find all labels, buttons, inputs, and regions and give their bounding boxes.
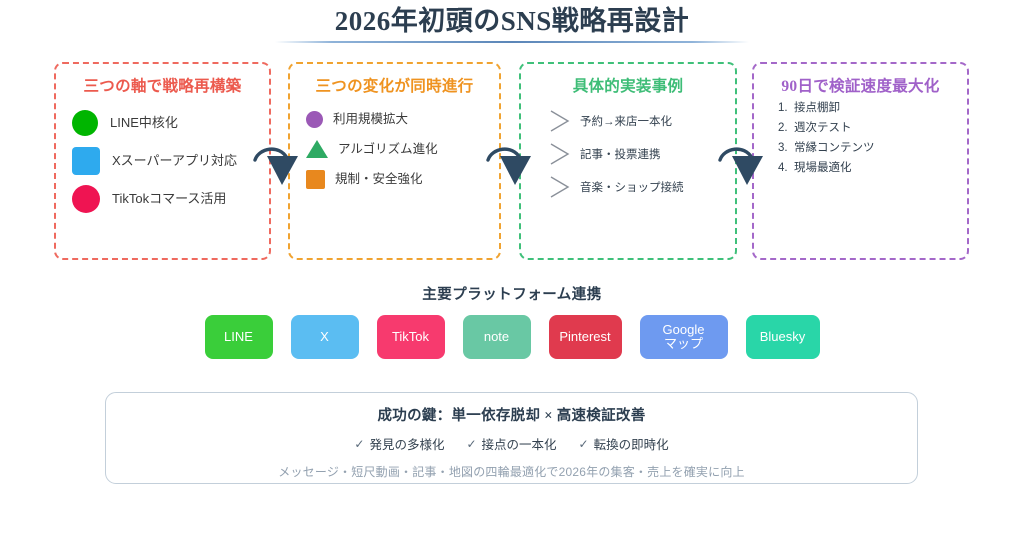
- platform-badge[interactable]: Google マップ: [640, 315, 728, 359]
- list-item: ✓ 転換の即時化: [579, 434, 669, 453]
- list-item-index: 3.: [778, 138, 794, 158]
- list-item-label: 規制・安全強化: [335, 172, 423, 187]
- list-item-label: 常縁コンテンツ: [794, 138, 875, 158]
- card-strategy-axes: 三つの軸で戦略再構築 LINE中核化 Xスーパーアプリ対応 TikTokコマース…: [54, 62, 271, 260]
- card-body: 1. 接点棚卸 2. 週次テスト 3. 常縁コンテンツ 4. 現場最適化: [754, 98, 967, 178]
- chevron-icon: [547, 108, 573, 134]
- list-item: アルゴリズム進化: [290, 134, 499, 164]
- list-item: 記事・投票連携: [521, 137, 735, 170]
- check-icon: ✓: [579, 437, 589, 451]
- list-item: 音楽・ショップ接続: [521, 170, 735, 203]
- platform-badge[interactable]: note: [463, 315, 531, 359]
- platform-badge-list: LINE X TikTok note Pinterest Google マップ …: [0, 315, 1024, 359]
- list-item-index: 4.: [778, 158, 794, 178]
- list-item-label: 発見の多様化: [369, 434, 444, 453]
- list-item-label: 週次テスト: [794, 118, 852, 138]
- list-item-label: LINE中核化: [110, 115, 178, 131]
- list-item-label: アルゴリズム進化: [338, 142, 438, 157]
- platform-badge[interactable]: Pinterest: [549, 315, 622, 359]
- list-item-index: 1.: [778, 98, 794, 118]
- square-marker: [306, 170, 325, 189]
- list-item-label: 転換の即時化: [594, 434, 669, 453]
- circle-marker: [72, 110, 98, 136]
- list-item: 規制・安全強化: [290, 164, 499, 194]
- list-item: 4. 現場最適化: [778, 158, 967, 178]
- list-item-label: 利用規模拡大: [333, 112, 408, 127]
- list-item-label: 音楽・ショップ接続: [580, 179, 684, 195]
- list-item-label: 記事・投票連携: [580, 146, 661, 162]
- list-item: Xスーパーアプリ対応: [56, 142, 269, 180]
- summary-box: 成功の鍵：単一依存脱却 × 高速検証改善 ✓ 発見の多様化 ✓ 接点の一本化 ✓…: [105, 392, 918, 484]
- list-item-index: 2.: [778, 118, 794, 138]
- list-item: 1. 接点棚卸: [778, 98, 967, 118]
- card-title: 90日で検証速度最大化: [754, 74, 967, 96]
- summary-check-list: ✓ 発見の多様化 ✓ 接点の一本化 ✓ 転換の即時化: [106, 434, 917, 453]
- chevron-icon: [547, 174, 573, 200]
- list-item: ✓ 接点の一本化: [466, 434, 556, 453]
- circle-marker: [72, 185, 100, 213]
- list-item: 2. 週次テスト: [778, 118, 967, 138]
- card-implementation-examples: 具体的実装事例 予約→来店一本化 記事・投票連携 音楽・ショップ接続: [519, 62, 737, 260]
- list-item: TikTokコマース活用: [56, 180, 269, 218]
- list-item-label: 現場最適化: [794, 158, 852, 178]
- platform-badge[interactable]: TikTok: [377, 315, 445, 359]
- summary-note: メッセージ・短尺動画・記事・地図の四輪最適化で2026年の集客・売上を確実に向上: [106, 463, 917, 480]
- summary-title: 成功の鍵：単一依存脱却 × 高速検証改善: [106, 404, 917, 425]
- card-body: 予約→来店一本化 記事・投票連携 音楽・ショップ接続: [521, 104, 735, 203]
- card-title: 三つの軸で戦略再構築: [56, 74, 269, 96]
- list-item: 予約→来店一本化: [521, 104, 735, 137]
- card-body: 利用規模拡大 アルゴリズム進化 規制・安全強化: [290, 104, 499, 194]
- platform-badge[interactable]: X: [291, 315, 359, 359]
- card-90day-validation: 90日で検証速度最大化 1. 接点棚卸 2. 週次テスト 3. 常縁コンテンツ …: [752, 62, 969, 260]
- page-title: 2026年初頭のSNS戦略再設計: [0, 4, 1024, 38]
- circle-marker: [306, 111, 323, 128]
- card-simultaneous-changes: 三つの変化が同時進行 利用規模拡大 アルゴリズム進化 規制・安全強化: [288, 62, 501, 260]
- list-item-label: 接点の一本化: [482, 434, 557, 453]
- list-item: ✓ 発見の多様化: [354, 434, 444, 453]
- triangle-marker: [306, 140, 328, 158]
- page-title-text: 2026年初頭のSNS戦略再設計: [0, 4, 1024, 38]
- chevron-icon: [547, 141, 573, 167]
- platform-badge[interactable]: LINE: [205, 315, 273, 359]
- list-item-label: 接点棚卸: [794, 98, 840, 118]
- list-item: LINE中核化: [56, 104, 269, 142]
- platform-badge[interactable]: Bluesky: [746, 315, 820, 359]
- card-title: 具体的実装事例: [521, 74, 735, 96]
- list-item: 3. 常縁コンテンツ: [778, 138, 967, 158]
- list-item-label: 予約→来店一本化: [580, 113, 672, 129]
- platforms-heading: 主要プラットフォーム連携: [0, 283, 1024, 304]
- check-icon: ✓: [466, 437, 476, 451]
- card-title: 三つの変化が同時進行: [290, 74, 499, 96]
- check-icon: ✓: [354, 437, 364, 451]
- list-item: 利用規模拡大: [290, 104, 499, 134]
- square-marker: [72, 147, 100, 175]
- list-item-label: Xスーパーアプリ対応: [112, 153, 237, 169]
- list-item-label: TikTokコマース活用: [112, 191, 226, 207]
- title-underline: [275, 41, 749, 43]
- card-body: LINE中核化 Xスーパーアプリ対応 TikTokコマース活用: [56, 104, 269, 218]
